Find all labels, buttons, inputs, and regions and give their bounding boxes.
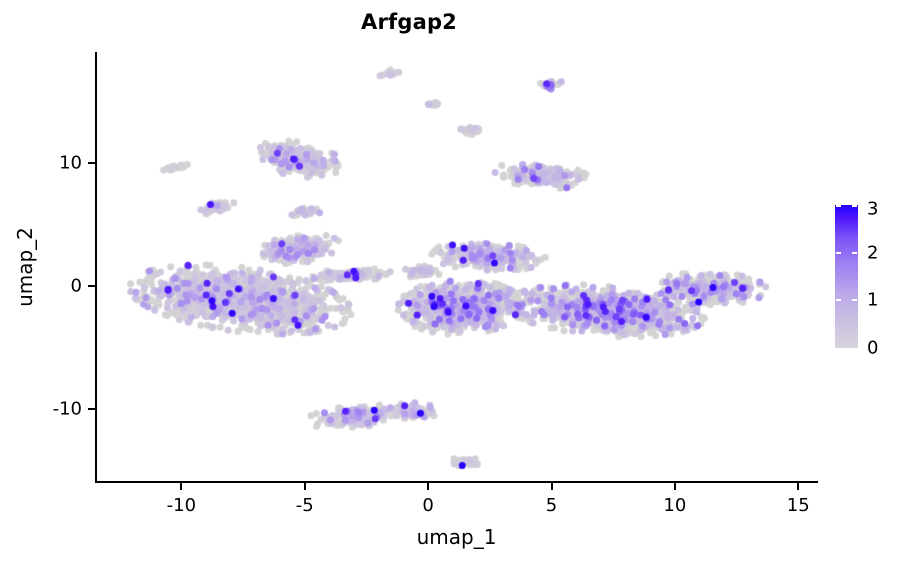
colorbar-tick — [852, 299, 857, 301]
colorbar-tick-label: 0 — [867, 338, 878, 359]
y-tick-label: -10 — [53, 399, 82, 420]
x-tick-label: 15 — [787, 495, 810, 516]
colorbar-tick — [836, 252, 841, 254]
colorbar-tick — [836, 205, 841, 207]
y-axis-spine — [95, 52, 97, 483]
colorbar: 0123 — [835, 205, 905, 348]
page-title: Arfgap2 — [0, 10, 818, 34]
x-tick — [797, 483, 799, 490]
x-tick — [180, 483, 182, 490]
x-tick-label: -5 — [296, 495, 314, 516]
scatter-canvas — [95, 52, 818, 483]
x-tick — [427, 483, 429, 490]
y-tick-label: 10 — [59, 152, 82, 173]
colorbar-gradient — [835, 205, 858, 348]
x-tick — [674, 483, 676, 490]
x-axis-spine — [95, 481, 818, 483]
colorbar-tick-label: 3 — [867, 199, 878, 220]
x-tick-label: 5 — [546, 495, 557, 516]
x-axis-label: umap_1 — [95, 525, 818, 549]
x-tick — [304, 483, 306, 490]
umap-feature-plot: Arfgap2 -10-5051015 -10010 umap_1 umap_2… — [0, 0, 911, 562]
x-tick-label: 0 — [422, 495, 433, 516]
x-tick-label: -10 — [167, 495, 196, 516]
colorbar-tick-label: 1 — [867, 290, 878, 311]
colorbar-tick — [852, 205, 857, 207]
x-tick-label: 10 — [663, 495, 686, 516]
colorbar-tick — [836, 299, 841, 301]
y-axis-label: umap_2 — [13, 227, 37, 307]
y-tick — [88, 285, 95, 287]
x-tick — [551, 483, 553, 490]
colorbar-tick-label: 2 — [867, 242, 878, 263]
y-tick-label: 0 — [71, 275, 82, 296]
y-tick — [88, 408, 95, 410]
colorbar-tick — [852, 252, 857, 254]
plot-area: -10-5051015 -10010 umap_1 umap_2 — [95, 52, 818, 483]
y-tick — [88, 162, 95, 164]
